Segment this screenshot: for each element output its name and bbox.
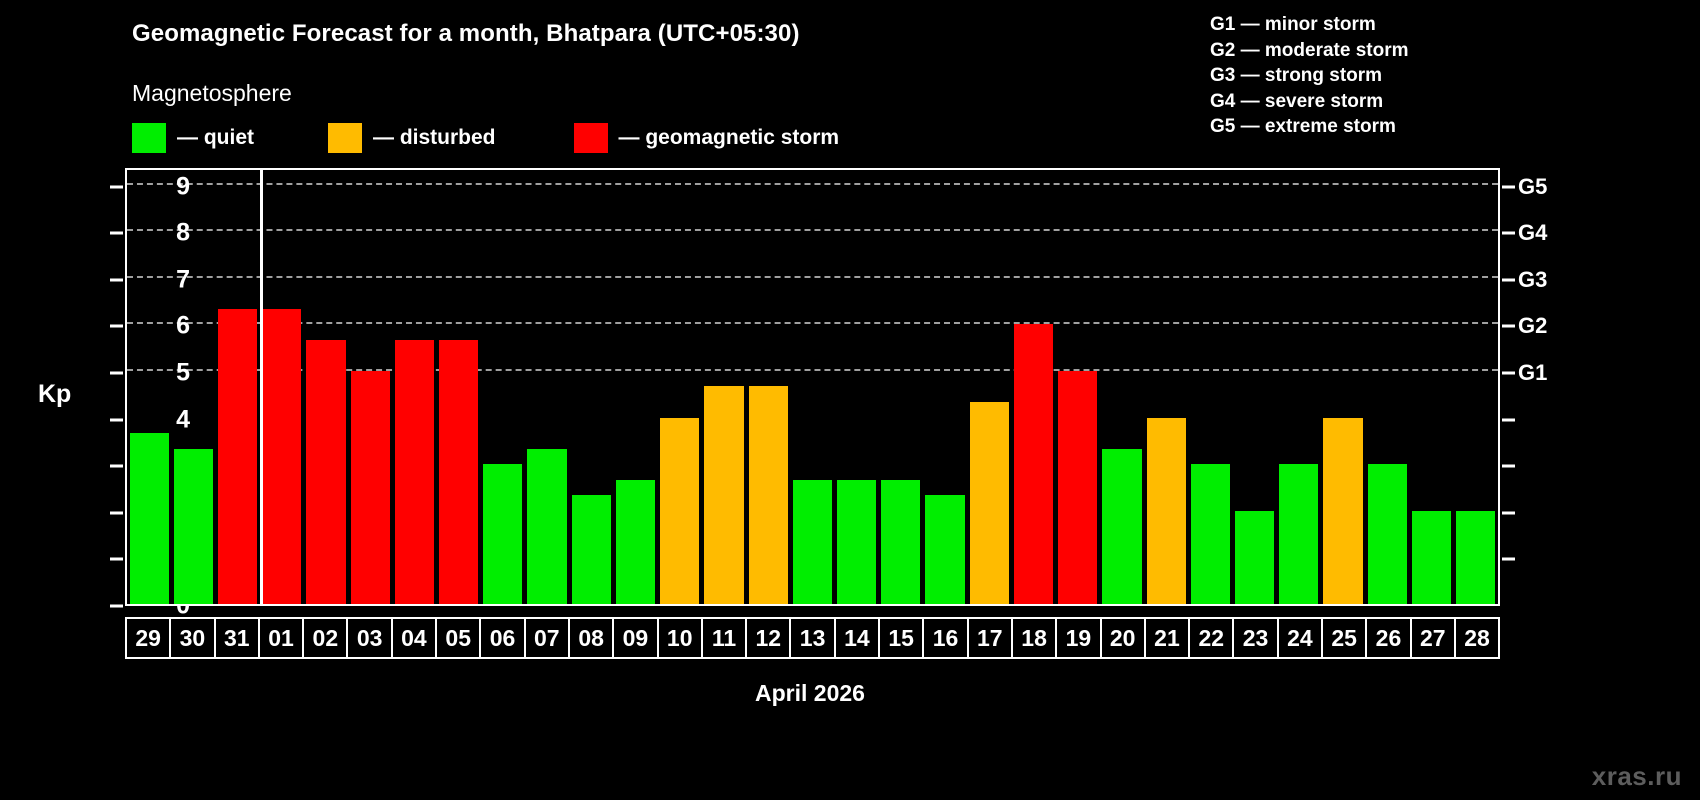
bar-slot[interactable] bbox=[127, 170, 171, 604]
bar-31[interactable] bbox=[218, 309, 257, 604]
legend-label-disturbed: — disturbed bbox=[373, 126, 496, 150]
plot-wrapper bbox=[125, 168, 1500, 606]
bar-slot[interactable] bbox=[835, 170, 879, 604]
day-label-13[interactable]: 13 bbox=[791, 619, 835, 657]
g-scale-line-5: G5 — extreme storm bbox=[1210, 114, 1409, 140]
x-axis-label: April 2026 bbox=[0, 680, 1700, 707]
legend-swatch-disturbed bbox=[328, 123, 362, 153]
day-label-03[interactable]: 03 bbox=[348, 619, 392, 657]
g-scale-line-2: G2 — moderate storm bbox=[1210, 38, 1409, 64]
day-label-24[interactable]: 24 bbox=[1279, 619, 1323, 657]
bar-01[interactable] bbox=[262, 309, 301, 604]
day-label-31[interactable]: 31 bbox=[216, 619, 260, 657]
day-label-14[interactable]: 14 bbox=[836, 619, 880, 657]
bar-20[interactable] bbox=[1102, 449, 1141, 604]
bar-08[interactable] bbox=[572, 495, 611, 604]
legend-label-storm: — geomagnetic storm bbox=[619, 126, 840, 150]
bar-slot[interactable] bbox=[1100, 170, 1144, 604]
bar-10[interactable] bbox=[660, 418, 699, 604]
day-label-29[interactable]: 29 bbox=[127, 619, 171, 657]
y-tick-mark-4 bbox=[110, 418, 123, 421]
day-label-12[interactable]: 12 bbox=[747, 619, 791, 657]
bar-series bbox=[127, 170, 1498, 604]
bar-slot[interactable] bbox=[1454, 170, 1498, 604]
bar-02[interactable] bbox=[306, 340, 345, 604]
g-scale-line-3: G3 — strong storm bbox=[1210, 63, 1409, 89]
day-label-26[interactable]: 26 bbox=[1367, 619, 1411, 657]
day-label-17[interactable]: 17 bbox=[969, 619, 1013, 657]
bar-07[interactable] bbox=[527, 449, 566, 604]
g-tick-mark-minor-2 bbox=[1502, 511, 1515, 514]
day-label-09[interactable]: 09 bbox=[614, 619, 658, 657]
bar-24[interactable] bbox=[1279, 464, 1318, 604]
day-label-20[interactable]: 20 bbox=[1102, 619, 1146, 657]
g-tick-mark-G3 bbox=[1502, 278, 1515, 281]
g-tick-mark-minor-4 bbox=[1502, 418, 1515, 421]
bar-06[interactable] bbox=[483, 464, 522, 604]
bar-26[interactable] bbox=[1368, 464, 1407, 604]
bar-22[interactable] bbox=[1191, 464, 1230, 604]
bar-21[interactable] bbox=[1147, 418, 1186, 604]
page-title: Geomagnetic Forecast for a month, Bhatpa… bbox=[132, 20, 800, 48]
day-label-07[interactable]: 07 bbox=[526, 619, 570, 657]
bar-27[interactable] bbox=[1412, 511, 1451, 604]
y-tick-mark-8 bbox=[110, 232, 123, 235]
day-label-27[interactable]: 27 bbox=[1412, 619, 1456, 657]
y-tick-mark-2 bbox=[110, 511, 123, 514]
bar-11[interactable] bbox=[704, 386, 743, 604]
g-tick-mark-G5 bbox=[1502, 185, 1515, 188]
bar-03[interactable] bbox=[351, 371, 390, 604]
g-tick-label-G2: G2 bbox=[1518, 313, 1547, 339]
bar-19[interactable] bbox=[1058, 371, 1097, 604]
magnetosphere-label: Magnetosphere bbox=[132, 80, 292, 107]
bar-slot[interactable] bbox=[392, 170, 436, 604]
month-divider-line bbox=[260, 170, 263, 604]
bar-slot[interactable] bbox=[1321, 170, 1365, 604]
g-tick-label-G3: G3 bbox=[1518, 267, 1547, 293]
bar-04[interactable] bbox=[395, 340, 434, 604]
g-scale-line-1: G1 — minor storm bbox=[1210, 12, 1409, 38]
bar-30[interactable] bbox=[174, 449, 213, 604]
bar-slot[interactable] bbox=[215, 170, 259, 604]
g-tick-label-G1: G1 bbox=[1518, 360, 1547, 386]
bar-05[interactable] bbox=[439, 340, 478, 604]
day-label-04[interactable]: 04 bbox=[393, 619, 437, 657]
bar-slot[interactable] bbox=[923, 170, 967, 604]
legend-item-storm: — geomagnetic storm bbox=[574, 123, 840, 153]
bar-25[interactable] bbox=[1323, 418, 1362, 604]
bar-slot[interactable] bbox=[746, 170, 790, 604]
bar-slot[interactable] bbox=[260, 170, 304, 604]
legend: — quiet — disturbed — geomagnetic storm bbox=[132, 123, 839, 153]
bar-slot[interactable] bbox=[171, 170, 215, 604]
bar-slot[interactable] bbox=[967, 170, 1011, 604]
g-tick-mark-minor-3 bbox=[1502, 465, 1515, 468]
legend-swatch-quiet bbox=[132, 123, 166, 153]
day-label-10[interactable]: 10 bbox=[659, 619, 703, 657]
legend-label-quiet: — quiet bbox=[177, 126, 254, 150]
y-tick-mark-9 bbox=[110, 185, 123, 188]
bar-29[interactable] bbox=[130, 433, 169, 604]
g-tick-mark-G2 bbox=[1502, 325, 1515, 328]
day-label-05[interactable]: 05 bbox=[437, 619, 481, 657]
bar-14[interactable] bbox=[837, 480, 876, 604]
x-axis-label-text: April 2026 bbox=[755, 680, 865, 706]
y-tick-mark-3 bbox=[110, 465, 123, 468]
bar-12[interactable] bbox=[749, 386, 788, 604]
bar-slot[interactable] bbox=[481, 170, 525, 604]
bar-slot[interactable] bbox=[790, 170, 834, 604]
legend-item-quiet: — quiet bbox=[132, 123, 254, 153]
bar-slot[interactable] bbox=[1409, 170, 1453, 604]
day-label-22[interactable]: 22 bbox=[1190, 619, 1234, 657]
y-tick-mark-7 bbox=[110, 278, 123, 281]
day-label-28[interactable]: 28 bbox=[1456, 619, 1498, 657]
bar-slot[interactable] bbox=[1011, 170, 1055, 604]
bar-slot[interactable] bbox=[1188, 170, 1232, 604]
bar-16[interactable] bbox=[925, 495, 964, 604]
bar-13[interactable] bbox=[793, 480, 832, 604]
day-label-15[interactable]: 15 bbox=[880, 619, 924, 657]
g-tick-mark-G4 bbox=[1502, 232, 1515, 235]
bar-28[interactable] bbox=[1456, 511, 1495, 604]
y-tick-mark-1 bbox=[110, 558, 123, 561]
y-tick-mark-0 bbox=[110, 605, 123, 608]
day-label-18[interactable]: 18 bbox=[1013, 619, 1057, 657]
y-tick-mark-6 bbox=[110, 325, 123, 328]
y-axis-label: Kp bbox=[38, 380, 71, 409]
bar-slot[interactable] bbox=[348, 170, 392, 604]
day-label-16[interactable]: 16 bbox=[924, 619, 968, 657]
day-label-01[interactable]: 01 bbox=[260, 619, 304, 657]
g-tick-mark-G1 bbox=[1502, 372, 1515, 375]
day-label-30[interactable]: 30 bbox=[171, 619, 215, 657]
day-label-11[interactable]: 11 bbox=[703, 619, 747, 657]
bar-09[interactable] bbox=[616, 480, 655, 604]
day-label-02[interactable]: 02 bbox=[304, 619, 348, 657]
day-label-21[interactable]: 21 bbox=[1146, 619, 1190, 657]
legend-item-disturbed: — disturbed bbox=[328, 123, 496, 153]
bar-slot[interactable] bbox=[613, 170, 657, 604]
bar-18[interactable] bbox=[1014, 324, 1053, 604]
bar-slot[interactable] bbox=[1277, 170, 1321, 604]
bar-slot[interactable] bbox=[1232, 170, 1276, 604]
bar-slot[interactable] bbox=[304, 170, 348, 604]
bar-17[interactable] bbox=[970, 402, 1009, 604]
bar-slot[interactable] bbox=[569, 170, 613, 604]
watermark: xras.ru bbox=[1592, 761, 1682, 792]
bar-slot[interactable] bbox=[1056, 170, 1100, 604]
legend-swatch-storm bbox=[574, 123, 608, 153]
day-label-25[interactable]: 25 bbox=[1323, 619, 1367, 657]
day-label-23[interactable]: 23 bbox=[1234, 619, 1278, 657]
bar-slot[interactable] bbox=[525, 170, 569, 604]
x-axis-day-labels: 2930310102030405060708091011121314151617… bbox=[125, 617, 1500, 659]
bar-slot[interactable] bbox=[658, 170, 702, 604]
bar-15[interactable] bbox=[881, 480, 920, 604]
g-scale-line-4: G4 — severe storm bbox=[1210, 89, 1409, 115]
bar-slot[interactable] bbox=[879, 170, 923, 604]
g-scale-legend: G1 — minor stormG2 — moderate stormG3 — … bbox=[1210, 12, 1409, 140]
g-tick-label-G4: G4 bbox=[1518, 220, 1547, 246]
bar-23[interactable] bbox=[1235, 511, 1274, 604]
day-label-06[interactable]: 06 bbox=[481, 619, 525, 657]
bar-slot[interactable] bbox=[437, 170, 481, 604]
day-label-19[interactable]: 19 bbox=[1057, 619, 1101, 657]
g-tick-label-G5: G5 bbox=[1518, 174, 1547, 200]
y-tick-mark-5 bbox=[110, 372, 123, 375]
bar-slot[interactable] bbox=[702, 170, 746, 604]
day-label-08[interactable]: 08 bbox=[570, 619, 614, 657]
g-tick-mark-minor-1 bbox=[1502, 558, 1515, 561]
bar-slot[interactable] bbox=[1365, 170, 1409, 604]
bar-slot[interactable] bbox=[1144, 170, 1188, 604]
plot-area bbox=[125, 168, 1500, 606]
